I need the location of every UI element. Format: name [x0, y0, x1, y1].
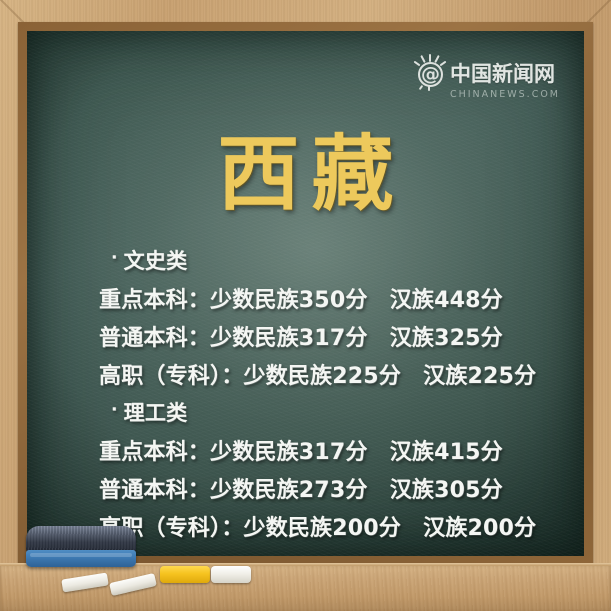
white-chalk: [211, 566, 251, 583]
page-title: 西藏: [27, 134, 584, 216]
blackboard-eraser: [26, 526, 136, 568]
chinanews-logo: @ 中国新闻网 CHINANEWS.COM: [417, 58, 560, 100]
eraser-base: [26, 550, 136, 567]
score-lines: ·文史类 重点本科：少数民族350分 汉族448分 普通本科：少数民族317分 …: [27, 241, 584, 545]
logo-brand-en: CHINANEWS.COM: [450, 89, 560, 100]
score-line-ligong-zhongdian: 重点本科：少数民族317分 汉族415分: [27, 431, 584, 469]
at-sign-burst-icon: @: [417, 58, 447, 88]
blackboard-frame: @ 中国新闻网 CHINANEWS.COM 西藏: [0, 0, 611, 611]
logo-brand-cn: 中国新闻网: [450, 58, 555, 88]
burst-ray: [419, 85, 424, 90]
score-line-wenshi-putong: 普通本科：少数民族317分 汉族325分: [27, 317, 584, 355]
bullet-icon: ·: [111, 248, 118, 268]
section-heading-ligong: ·理工类: [27, 393, 584, 431]
eraser-felt: [26, 526, 136, 552]
board-inner-bevel: @ 中国新闻网 CHINANEWS.COM 西藏: [18, 22, 593, 565]
burst-ray: [428, 86, 430, 91]
section-label: 文史类: [124, 245, 188, 275]
chalkboard-surface: @ 中国新闻网 CHINANEWS.COM 西藏: [27, 31, 584, 556]
score-line-wenshi-gaozhi: 高职（专科）：少数民族225分 汉族225分: [27, 355, 584, 393]
score-line-ligong-putong: 普通本科：少数民族273分 汉族305分: [27, 469, 584, 507]
score-line-wenshi-zhongdian: 重点本科：少数民族350分 汉族448分: [27, 279, 584, 317]
burst-ray: [429, 54, 431, 62]
section-heading-wenshi: ·文史类: [27, 241, 584, 279]
bullet-icon: ·: [111, 400, 118, 420]
yellow-chalk: [160, 566, 210, 583]
section-label: 理工类: [124, 397, 188, 427]
logo-row: @ 中国新闻网: [417, 58, 555, 88]
